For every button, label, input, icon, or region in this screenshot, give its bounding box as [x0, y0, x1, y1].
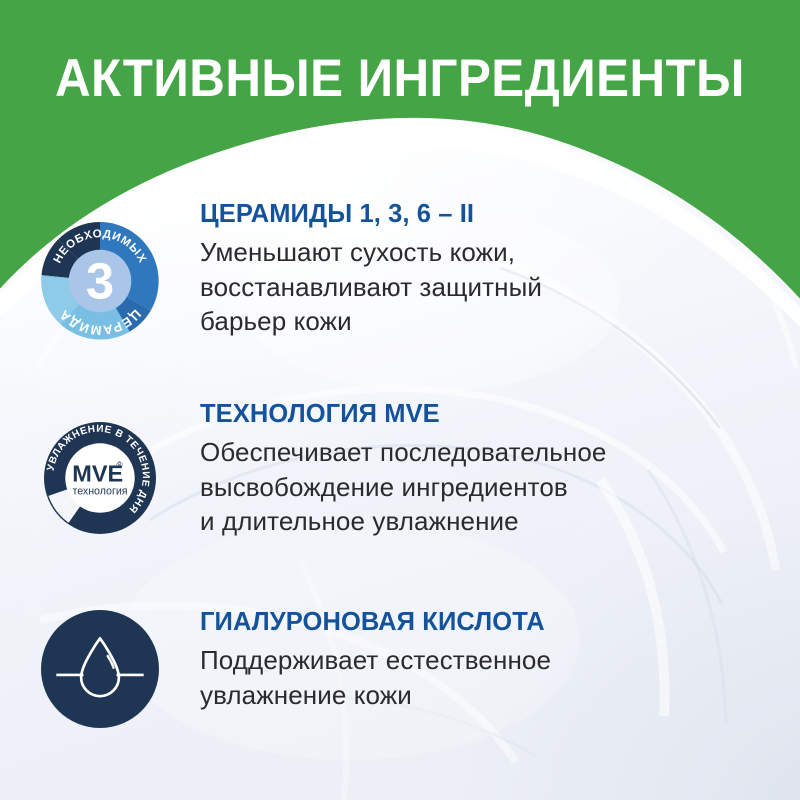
feature-line: Поддерживает естественное: [200, 643, 730, 678]
feature-item-mve: УВЛАЖНЕНИЕ В ТЕЧЕНИЕ ДНЯ MVE ® технологи…: [0, 400, 800, 539]
feature-line: увлажнение кожи: [200, 678, 730, 713]
feature-line: барьер кожи: [200, 304, 730, 339]
badge-center-main: MVE: [72, 461, 123, 487]
feature-item-ceramides: 3 НЕОБХОДИМЫХ ЦЕРАМИДА ЦЕРАМИДЫ 1, 3, 6 …: [0, 200, 800, 340]
badge-slot-hyaluronic-acid: [0, 608, 200, 728]
feature-title: ЦЕРАМИДЫ 1, 3, 6 – II: [200, 200, 730, 228]
three-ceramides-badge-icon: 3 НЕОБХОДИМЫХ ЦЕРАМИДА: [41, 222, 159, 340]
feature-title: ГИАЛУРОНОВАЯ КИСЛОТА: [200, 608, 730, 636]
feature-line: и длительное увлажнение: [200, 504, 730, 539]
feature-description: Обеспечивает последовательное высвобожде…: [200, 435, 730, 539]
feature-line: Уменьшают сухость кожи,: [200, 235, 730, 270]
features-list: 3 НЕОБХОДИМЫХ ЦЕРАМИДА ЦЕРАМИДЫ 1, 3, 6 …: [0, 0, 800, 800]
feature-description: Поддерживает естественное увлажнение кож…: [200, 643, 730, 712]
feature-title: ТЕХНОЛОГИЯ MVE: [200, 400, 730, 428]
mve-technology-badge-icon: УВЛАЖНЕНИЕ В ТЕЧЕНИЕ ДНЯ MVE ® технологи…: [44, 422, 156, 534]
feature-line: высвобождение ингредиентов: [200, 470, 730, 505]
feature-text-ceramides: ЦЕРАМИДЫ 1, 3, 6 – II Уменьшают сухость …: [200, 200, 800, 339]
feature-line: восстанавливают защитный: [200, 270, 730, 305]
feature-item-hyaluronic-acid: ГИАЛУРОНОВАЯ КИСЛОТА Поддерживает естест…: [0, 608, 800, 728]
feature-text-hyaluronic-acid: ГИАЛУРОНОВАЯ КИСЛОТА Поддерживает естест…: [200, 608, 800, 712]
water-drop-badge-icon: [41, 610, 159, 728]
feature-text-mve: ТЕХНОЛОГИЯ MVE Обеспечивает последовател…: [200, 400, 800, 539]
badge-center-superscript: ®: [117, 460, 124, 470]
badge-slot-mve: УВЛАЖНЕНИЕ В ТЕЧЕНИЕ ДНЯ MVE ® технологи…: [0, 400, 200, 534]
badge-center-number: 3: [86, 253, 114, 310]
product-feature-poster: АКТИВНЫЕ ИНГРЕДИЕНТЫ: [0, 0, 800, 800]
feature-description: Уменьшают сухость кожи, восстанавливают …: [200, 235, 730, 339]
feature-line: Обеспечивает последовательное: [200, 435, 730, 470]
badge-center-sub: технология: [72, 485, 127, 497]
badge-slot-ceramides: 3 НЕОБХОДИМЫХ ЦЕРАМИДА: [0, 200, 200, 340]
